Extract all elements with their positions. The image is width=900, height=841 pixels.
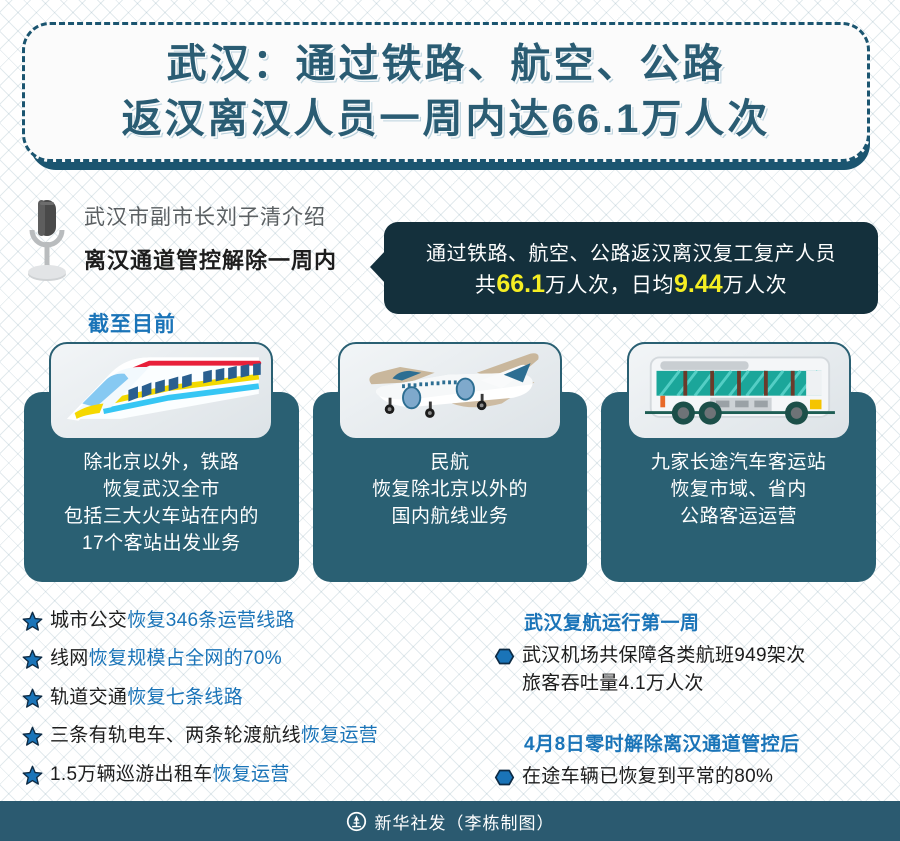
callout-prefix: 共 [475, 274, 497, 297]
card-railway: 除北京以外，铁路 恢复武汉全市 包括三大火车站在内的 17个客站出发业务 [24, 392, 299, 582]
hexagon-icon [494, 767, 515, 788]
bullet-plain: 线网 [50, 648, 89, 669]
card-railway-line-3: 包括三大火车站在内的 [64, 504, 259, 531]
bus-icon [629, 344, 849, 438]
speaker-block: 武汉市副市长刘子清介绍 离汉通道管控解除一周内 [20, 196, 390, 306]
card-aviation-line-3: 国内航线业务 [392, 504, 509, 531]
bus-icon-panel [627, 342, 851, 440]
list-item-text: 1.5万辆巡游出租车恢复运营 [50, 762, 290, 787]
list-item: 在途车辆已恢复到平常的80% [494, 763, 894, 791]
title-line-2: 返汉离汉人员一周内达66.1万人次 [122, 93, 771, 146]
speaker-line-1: 武汉市副市长刘子清介绍 [84, 202, 337, 234]
list-item: 武汉机场共保障各类航班949架次 旅客吞吐量4.1万人次 [494, 642, 894, 697]
bullet-plain: 轨道交通 [50, 687, 127, 708]
callout-mid: 万人次，日均 [545, 274, 674, 297]
microphone-icon [20, 196, 74, 292]
card-railway-line-2: 恢复武汉全市 [103, 477, 220, 504]
list-item-text: 轨道交通恢复七条线路 [50, 685, 243, 710]
bullet-plain: 1.5万辆巡游出租车 [50, 764, 212, 785]
callout-suffix: 万人次 [723, 274, 788, 297]
list-item-text: 线网恢复规模占全网的70% [50, 646, 282, 671]
star-icon [22, 765, 43, 786]
star-icon [22, 649, 43, 670]
title-box: 武汉：通过铁路、航空、公路 返汉离汉人员一周内达66.1万人次 [22, 22, 870, 162]
list-item: 线网恢复规模占全网的70% [22, 646, 492, 671]
bullet-plain: 三条有轨电车、两条轮渡航线 [50, 725, 301, 746]
left-bullet-list: 城市公交恢复346条运营线路 线网恢复规模占全网的70% 轨道交通恢复七条线路 … [22, 608, 492, 800]
train-icon [51, 344, 271, 438]
footer-credit-text: 新华社发（李栋制图） [375, 809, 555, 834]
star-icon [22, 688, 43, 709]
transport-cards: 除北京以外，铁路 恢复武汉全市 包括三大火车站在内的 17个客站出发业务 [24, 392, 876, 582]
bullet-highlight: 恢复运营 [301, 725, 378, 746]
callout-number-total: 66.1 [496, 270, 545, 298]
card-aviation-line-1: 民航 [431, 450, 470, 477]
airplane-icon-panel [338, 342, 562, 440]
list-item: 三条有轨电车、两条轮渡航线恢复运营 [22, 723, 492, 748]
star-icon [22, 611, 43, 632]
callout-line-2: 共66.1万人次，日均9.44万人次 [475, 269, 787, 299]
callout-box: 通过铁路、航空、公路返汉离汉复工复产人员 共66.1万人次，日均9.44万人次 [384, 222, 878, 314]
list-item-text: 在途车辆已恢复到平常的80% [522, 763, 773, 791]
title-banner: 武汉：通过铁路、航空、公路 返汉离汉人员一周内达66.1万人次 [22, 22, 878, 174]
card-railway-line-1: 除北京以外，铁路 [83, 450, 239, 477]
speaker-line-2: 离汉通道管控解除一周内 [84, 244, 337, 277]
star-icon [22, 726, 43, 747]
card-aviation-line-2: 恢复除北京以外的 [372, 477, 528, 504]
card-highway-line-1: 九家长途汽车客运站 [651, 450, 827, 477]
hexagon-icon [494, 646, 515, 667]
card-railway-line-4: 17个客站出发业务 [82, 531, 241, 558]
right-item-line-1: 武汉机场共保障各类航班949架次 [522, 645, 806, 666]
callout-line-1: 通过铁路、航空、公路返汉离汉复工复产人员 [426, 237, 836, 266]
footer-bar: 新华社发（李栋制图） [0, 801, 900, 841]
bullet-highlight: 恢复346条运营线路 [127, 610, 295, 631]
list-item-text: 武汉机场共保障各类航班949架次 旅客吞吐量4.1万人次 [522, 642, 806, 697]
list-item: 轨道交通恢复七条线路 [22, 685, 492, 710]
list-item: 1.5万辆巡游出租车恢复运营 [22, 762, 492, 787]
bullet-highlight: 恢复运营 [212, 764, 289, 785]
list-item-text: 城市公交恢复346条运营线路 [50, 608, 295, 633]
title-line-1: 武汉：通过铁路、航空、公路 [167, 38, 726, 91]
bullet-plain: 城市公交 [50, 610, 127, 631]
right-group-heading-1: 武汉复航运行第一周 [524, 608, 894, 635]
bullet-highlight: 恢复规模占全网的70% [89, 648, 282, 669]
list-item-text: 三条有轨电车、两条轮渡航线恢复运营 [50, 723, 378, 748]
right-item-line-2: 旅客吞吐量4.1万人次 [522, 673, 704, 694]
bullet-highlight: 恢复七条线路 [127, 687, 243, 708]
train-icon-panel [49, 342, 273, 440]
callout-number-daily: 9.44 [674, 270, 723, 298]
as-of-label: 截至目前 [88, 308, 176, 338]
infographic-page: 武汉：通过铁路、航空、公路 返汉离汉人员一周内达66.1万人次 武汉市副市长刘子… [0, 0, 900, 841]
right-group-heading-2: 4月8日零时解除离汉通道管控后 [524, 729, 894, 756]
list-item: 城市公交恢复346条运营线路 [22, 608, 492, 633]
card-highway-line-3: 公路客运运营 [680, 504, 797, 531]
airplane-icon [340, 344, 560, 438]
card-highway-line-2: 恢复市域、省内 [670, 477, 807, 504]
right-bullet-list: 武汉复航运行第一周 武汉机场共保障各类航班949架次 旅客吞吐量4.1万人次 4… [494, 608, 894, 804]
card-aviation: 民航 恢复除北京以外的 国内航线业务 [313, 392, 588, 582]
card-highway: 九家长途汽车客运站 恢复市域、省内 公路客运运营 [601, 392, 876, 582]
xinhua-logo-icon [346, 811, 367, 832]
speaker-text: 武汉市副市长刘子清介绍 离汉通道管控解除一周内 [84, 196, 337, 277]
